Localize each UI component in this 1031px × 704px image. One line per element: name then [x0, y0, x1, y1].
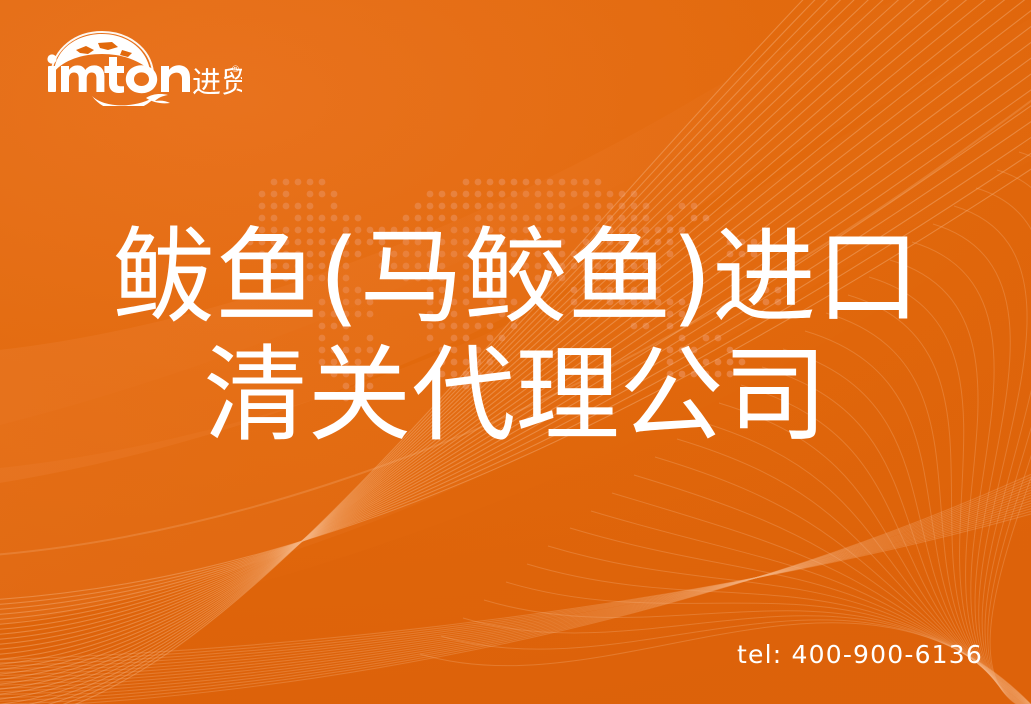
contact-phone[interactable]: tel: 400-900-6136	[737, 640, 983, 669]
swoosh-bird-icon	[92, 94, 170, 106]
page-title-line-1: 鲅鱼(马鲛鱼)进口	[0, 218, 1031, 336]
page-title-line-2: 清关代理公司	[0, 336, 1031, 454]
promo-banner: 进贸通 ® 鲅鱼(马鲛鱼)进口 清关代理公司 tel: 400-900-6136	[0, 0, 1031, 704]
page-title: 鲅鱼(马鲛鱼)进口 清关代理公司	[0, 218, 1031, 454]
brand-logo[interactable]: 进贸通 ®	[42, 26, 242, 106]
registered-trademark-icon: ®	[231, 65, 240, 75]
